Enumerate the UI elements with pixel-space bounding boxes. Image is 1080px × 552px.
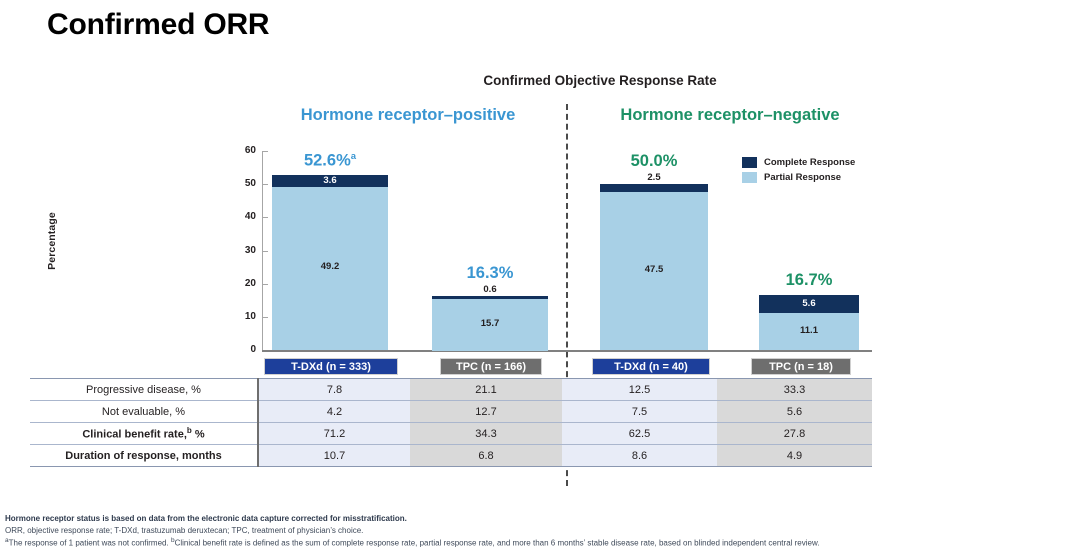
y-axis-tick-value: 60 xyxy=(226,145,256,156)
y-axis-tick-label: 40 xyxy=(222,211,256,223)
table-cell: 7.5 xyxy=(562,401,717,423)
table-row: Clinical benefit rate,b %71.234.362.527.… xyxy=(30,423,872,445)
y-axis-tick-value: 30 xyxy=(226,245,256,256)
table-cell: 34.3 xyxy=(410,423,562,445)
bar-value-label-partial-response: 15.7 xyxy=(432,318,548,329)
footnote-line-3: aThe response of 1 patient was not confi… xyxy=(5,536,1077,549)
y-axis-tick xyxy=(262,217,268,218)
table-cell: 10.7 xyxy=(258,445,410,467)
table-row-label: Clinical benefit rate,b % xyxy=(30,423,258,445)
y-axis-tick-label: 30 xyxy=(222,245,256,257)
table-cell: 12.7 xyxy=(410,401,562,423)
footnote-text-b: Clinical benefit rate is defined as the … xyxy=(175,539,820,548)
table-cell: 21.1 xyxy=(410,379,562,401)
table-cell: 5.6 xyxy=(717,401,872,423)
page-title: Confirmed ORR xyxy=(47,8,269,42)
bar-total-label: 50.0% xyxy=(600,152,708,171)
chart-title: Confirmed Objective Response Rate xyxy=(0,73,1080,88)
y-axis-tick-label: 50 xyxy=(222,178,256,190)
bar-value-label-complete-response: 3.6 xyxy=(272,175,388,186)
bar-value-label-complete-response: 5.6 xyxy=(759,298,859,309)
y-axis-tick xyxy=(262,251,268,252)
bar-value-label-partial-response: 47.5 xyxy=(600,264,708,275)
column-header-tpc: TPC (n = 166) xyxy=(440,358,542,375)
bar-value-label-partial-response: 49.2 xyxy=(272,261,388,272)
table-cell: 8.6 xyxy=(562,445,717,467)
table-cell: 12.5 xyxy=(562,379,717,401)
footnote-text-a: The response of 1 patient was not confir… xyxy=(9,539,171,548)
data-table: Progressive disease, %7.821.112.533.3Not… xyxy=(30,378,872,467)
y-axis-tick xyxy=(262,184,268,185)
legend-item: Partial Response xyxy=(742,172,855,183)
legend-item: Complete Response xyxy=(742,157,855,168)
bar-segment-complete-response xyxy=(600,184,708,192)
legend-label: Partial Response xyxy=(764,172,841,183)
legend-swatch-icon xyxy=(742,172,757,183)
chart-legend: Complete ResponsePartial Response xyxy=(742,157,855,187)
footnote-line-1: Hormone receptor status is based on data… xyxy=(5,513,1077,525)
footnote-line-2: ORR, objective response rate; T-DXd, tra… xyxy=(5,525,1077,537)
y-axis-tick-value: 0 xyxy=(226,344,256,355)
y-axis-tick-label: 10 xyxy=(222,311,256,323)
table-cell: 71.2 xyxy=(258,423,410,445)
legend-swatch-icon xyxy=(742,157,757,168)
y-axis-tick xyxy=(262,317,268,318)
table-cell: 7.8 xyxy=(258,379,410,401)
y-axis-title: Percentage xyxy=(46,181,58,301)
column-header-tdxd: T-DXd (n = 333) xyxy=(264,358,398,375)
table-row-label: Progressive disease, % xyxy=(30,379,258,401)
y-axis-tick-label: 0 xyxy=(222,344,256,356)
table-row: Not evaluable, %4.212.77.55.6 xyxy=(30,401,872,423)
table-cell: 33.3 xyxy=(717,379,872,401)
y-axis-tick-label: 20 xyxy=(222,278,256,290)
y-axis-tick-value: 20 xyxy=(226,278,256,289)
table-cell: 4.2 xyxy=(258,401,410,423)
table-cell: 62.5 xyxy=(562,423,717,445)
bar-total-label: 52.6%a xyxy=(272,151,388,171)
table-cell: 6.8 xyxy=(410,445,562,467)
table-cell: 4.9 xyxy=(717,445,872,467)
y-axis-tick-value: 40 xyxy=(226,211,256,222)
table-row-label: Not evaluable, % xyxy=(30,401,258,423)
footnotes: Hormone receptor status is based on data… xyxy=(5,513,1077,549)
x-axis-line xyxy=(262,350,872,352)
y-axis-tick xyxy=(262,284,268,285)
bar-value-label-partial-response: 11.1 xyxy=(759,325,859,336)
column-header-tdxd: T-DXd (n = 40) xyxy=(592,358,710,375)
y-axis-tick xyxy=(262,151,268,152)
table-row: Duration of response, months10.76.88.64.… xyxy=(30,445,872,467)
bar-total-label: 16.7% xyxy=(759,271,859,290)
y-axis-tick-label: 60 xyxy=(222,145,256,157)
panel-label-hormone-receptor-negative: Hormone receptor–negative xyxy=(575,106,885,125)
table-cell: 27.8 xyxy=(717,423,872,445)
y-axis-tick-value: 10 xyxy=(226,311,256,322)
slide-canvas: Confirmed ORR Confirmed Objective Respon… xyxy=(0,0,1080,552)
bar-total-label: 16.3% xyxy=(432,264,548,283)
table-row: Progressive disease, %7.821.112.533.3 xyxy=(30,379,872,401)
bar-value-label-complete-response: 0.6 xyxy=(432,284,548,295)
column-header-tpc: TPC (n = 18) xyxy=(751,358,851,375)
legend-label: Complete Response xyxy=(764,157,855,168)
panel-label-hormone-receptor-positive: Hormone receptor–positive xyxy=(248,106,568,125)
y-axis-tick-value: 50 xyxy=(226,178,256,189)
table-row-label: Duration of response, months xyxy=(30,445,258,467)
bar-total-footnote-marker: a xyxy=(351,151,356,162)
bar-value-label-complete-response: 2.5 xyxy=(600,172,708,183)
table-row-footnote-marker: b xyxy=(187,426,192,435)
